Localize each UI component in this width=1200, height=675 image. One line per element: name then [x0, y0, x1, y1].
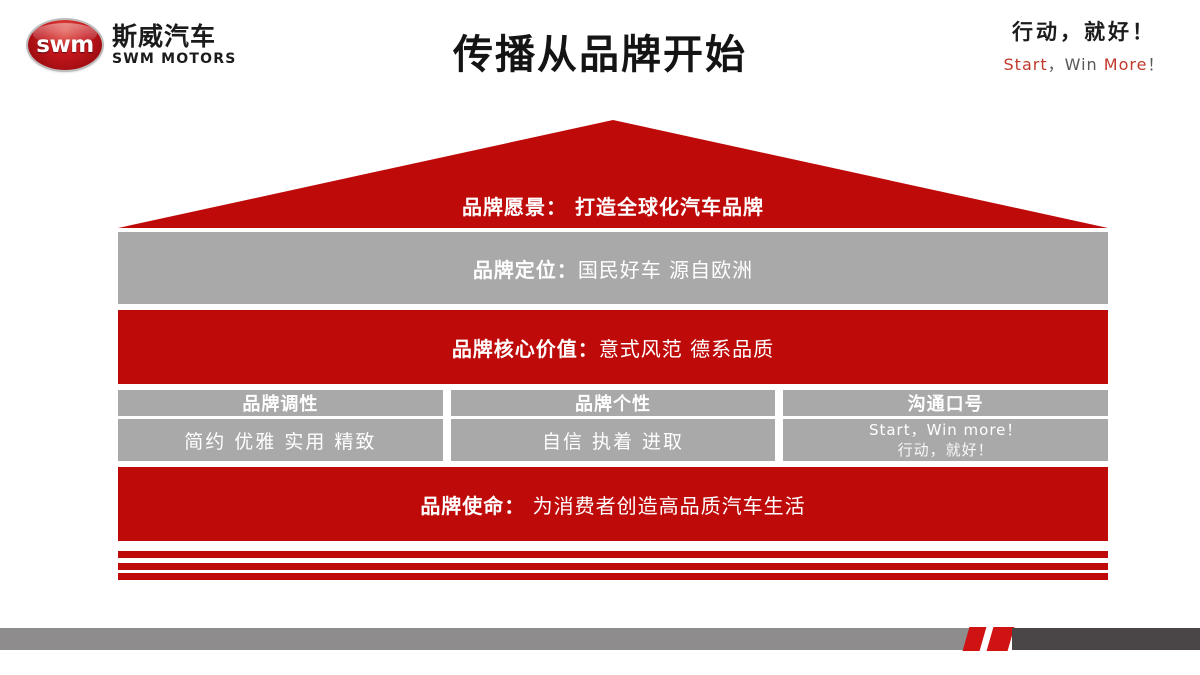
tagline-en-start: Start [1004, 55, 1048, 74]
tagline-en-sep2: ！ [1147, 55, 1164, 74]
pyramid-base-lines [118, 551, 1108, 580]
tagline-en-win: Win [1065, 55, 1098, 74]
tagline-en-more: More [1104, 55, 1148, 74]
base-line-3 [118, 573, 1108, 580]
tagline-en-sep1: ， [1048, 55, 1065, 74]
mission-label-lead: 品牌使命： [420, 490, 525, 519]
base-line-2 [118, 563, 1108, 570]
attribute-column-personality: 品牌个性 自信 执着 进取 [451, 390, 776, 461]
vision-label-rest: 打造全球化汽车品牌 [575, 195, 764, 219]
positioning-label-lead: 品牌定位： [473, 254, 578, 283]
pyramid-roof-vision: 品牌愿景： 打造全球化汽车品牌 [118, 120, 1108, 228]
base-line-1 [118, 551, 1108, 558]
attribute-body-slogan-line1: Start，Win more！ [869, 420, 1022, 440]
attribute-column-tonality: 品牌调性 简约 优雅 实用 精致 [118, 390, 443, 461]
brand-tagline: 行动，就好！ Start，Win More！ [984, 16, 1184, 75]
mission-label-rest: 为消费者创造高品质汽车生活 [533, 490, 806, 519]
attribute-body-slogan: Start，Win more！ 行动，就好！ [783, 419, 1108, 461]
footer-decoration [0, 628, 1200, 650]
slide-canvas: swm 斯威汽车 SWM MOTORS 传播从品牌开始 行动，就好！ Start… [0, 0, 1200, 675]
tagline-cn: 行动，就好！ [984, 16, 1184, 46]
core-value-label-rest: 意式风范 德系品质 [599, 333, 774, 362]
pyramid-row-positioning: 品牌定位：国民好车 源自欧洲 [118, 232, 1108, 304]
attribute-body-tonality-line1: 简约 优雅 实用 精致 [184, 427, 376, 454]
pyramid-row-attributes: 品牌调性 简约 优雅 实用 精致 品牌个性 自信 执着 进取 沟通口号 Star… [118, 390, 1108, 461]
footer-gray-bar [0, 628, 975, 650]
vision-label-lead: 品牌愿景： [462, 195, 567, 219]
vision-label: 品牌愿景： 打造全球化汽车品牌 [118, 191, 1108, 220]
pyramid-row-mission: 品牌使命： 为消费者创造高品质汽车生活 [118, 467, 1108, 541]
positioning-label-rest: 国民好车 源自欧洲 [578, 254, 753, 283]
core-value-label-lead: 品牌核心价值： [452, 333, 599, 362]
pyramid-row-core-value: 品牌核心价值：意式风范 德系品质 [118, 310, 1108, 384]
attribute-body-slogan-line2: 行动，就好！ [898, 440, 994, 460]
attribute-column-slogan: 沟通口号 Start，Win more！ 行动，就好！ [783, 390, 1108, 461]
attribute-head-slogan: 沟通口号 [783, 390, 1108, 416]
attribute-body-tonality: 简约 优雅 实用 精致 [118, 419, 443, 461]
attribute-body-personality-line1: 自信 执着 进取 [542, 427, 684, 454]
footer-red-slash-2-icon [987, 627, 1015, 651]
brand-pyramid-diagram: 品牌愿景： 打造全球化汽车品牌 品牌定位：国民好车 源自欧洲 品牌核心价值：意式… [118, 120, 1108, 580]
footer-dark-bar [1012, 628, 1200, 650]
attribute-head-tonality: 品牌调性 [118, 390, 443, 416]
tagline-en: Start，Win More！ [984, 51, 1184, 75]
attribute-body-personality: 自信 执着 进取 [451, 419, 776, 461]
attribute-head-personality: 品牌个性 [451, 390, 776, 416]
